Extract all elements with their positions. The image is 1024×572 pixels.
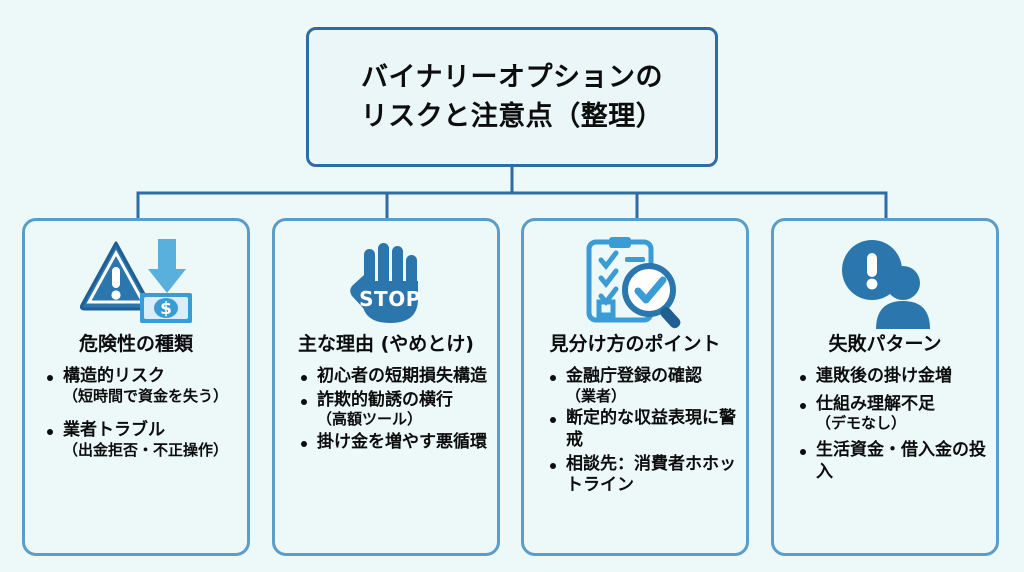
bullet-main: 相談先：消費者ホホットライン — [566, 454, 736, 496]
bullet-main: 連敗後の掛け金増 — [816, 366, 952, 386]
bullet-list: 金融庁登録の確認 （業者） 断定的な収益表現に警戒 相談先：消費者ホホットライン — [534, 366, 736, 499]
bullet-sub: （デモなし） — [816, 414, 986, 434]
page-title: バイナリーオプションの リスクと注意点（整理） — [347, 58, 678, 136]
warning-money-icon: $ — [35, 235, 237, 331]
bullet-main: 業者トラブル — [63, 420, 165, 440]
bullet-sub: （高額ツール） — [317, 410, 487, 430]
bullet-list: 構造的リスク （短時間で資金を失う） 業者トラブル （出金拒否・不正操作） — [35, 366, 237, 475]
stop-label-text: STOP — [359, 287, 421, 311]
bullet-main: 金融庁登録の確認 — [566, 366, 702, 386]
list-item: 業者トラブル （出金拒否・不正操作） — [45, 420, 237, 460]
bullet-main: 構造的リスク — [63, 366, 165, 386]
list-item: 掛け金を増やす悪循環 — [299, 432, 487, 454]
bullet-main: 詐欺的勧誘の横行 — [317, 390, 453, 410]
bullet-main: 掛け金を増やす悪循環 — [317, 432, 487, 452]
bullet-main: 生活資金・借入金の投入 — [816, 440, 986, 482]
person-alert-icon — [784, 235, 986, 331]
stop-hand-icon: STOP — [285, 235, 487, 331]
bullet-main: 仕組み理解不足 — [816, 394, 935, 414]
money-symbol-text: $ — [160, 299, 172, 319]
card-heading: 失敗パターン — [828, 333, 941, 356]
bullet-main: 初心者の短期損失構造 — [317, 366, 487, 386]
bullet-main: 断定的な収益表現に警戒 — [566, 408, 736, 450]
list-item: 相談先：消費者ホホットライン — [548, 454, 736, 498]
list-item: 連敗後の掛け金増 — [798, 366, 986, 388]
card-heading: 主な理由 (やめとけ) — [298, 333, 474, 356]
card-main-reasons[interactable]: STOP 主な理由 (やめとけ) 初心者の短期損失構造 詐欺的勧誘の横行 （高額… — [272, 218, 500, 556]
bullet-list: 連敗後の掛け金増 仕組み理解不足 （デモなし） 生活資金・借入金の投入 — [784, 366, 986, 490]
list-item: 詐欺的勧誘の横行 （高額ツール） — [299, 390, 487, 430]
title-box: バイナリーオプションの リスクと注意点（整理） — [306, 27, 718, 167]
list-item: 構造的リスク （短時間で資金を失う） — [45, 366, 237, 406]
list-item: 仕組み理解不足 （デモなし） — [798, 394, 986, 434]
card-failure-patterns[interactable]: 失敗パターン 連敗後の掛け金増 仕組み理解不足 （デモなし） 生活資金・借入金の… — [771, 218, 999, 556]
checklist-magnifier-icon — [534, 235, 736, 331]
card-risk-types[interactable]: $ 危険性の種類 構造的リスク （短時間で資金を失う） 業者トラブル （出金拒否… — [22, 218, 250, 556]
bullet-list: 初心者の短期損失構造 詐欺的勧誘の横行 （高額ツール） 掛け金を増やす悪循環 — [285, 366, 487, 456]
card-heading: 見分け方のポイント — [549, 333, 720, 356]
list-item: 生活資金・借入金の投入 — [798, 440, 986, 484]
card-heading: 危険性の種類 — [79, 333, 193, 356]
bullet-sub: （業者） — [566, 387, 736, 407]
infographic-root: バイナリーオプションの リスクと注意点（整理） — [0, 0, 1024, 572]
list-item: 断定的な収益表現に警戒 — [548, 408, 736, 452]
list-item: 初心者の短期損失構造 — [299, 366, 487, 388]
bullet-sub: （出金拒否・不正操作） — [63, 441, 237, 461]
bullet-sub: （短時間で資金を失う） — [63, 387, 237, 407]
card-detection-points[interactable]: 見分け方のポイント 金融庁登録の確認 （業者） 断定的な収益表現に警戒 相談先：… — [521, 218, 749, 556]
list-item: 金融庁登録の確認 （業者） — [548, 366, 736, 406]
